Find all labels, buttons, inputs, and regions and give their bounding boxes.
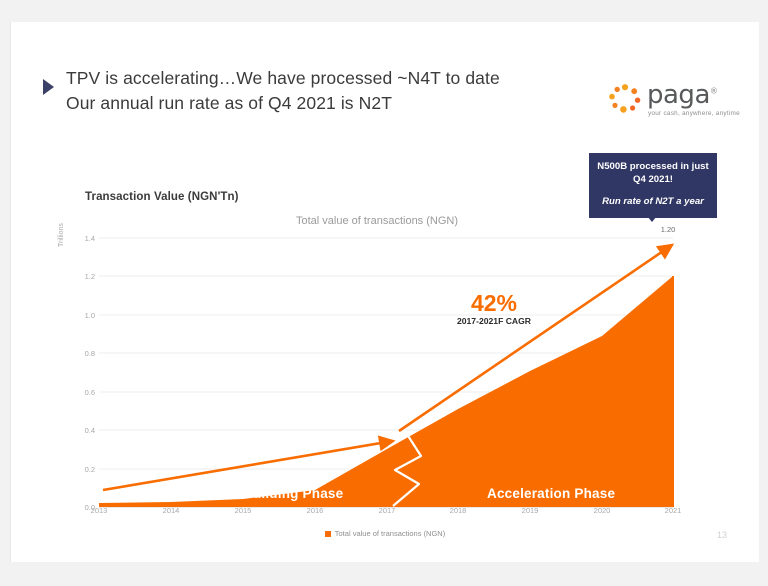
- x-tick-label-2020: 2020: [582, 506, 622, 515]
- area-chart: [11, 22, 759, 562]
- cagr-caption: 2017-2021F CAGR: [436, 316, 552, 326]
- x-tick-label-2013: 2013: [79, 506, 119, 515]
- legend-swatch-icon: [325, 531, 331, 537]
- x-tick-label-2016: 2016: [295, 506, 335, 515]
- chart-legend: Total value of transactions (NGN): [11, 525, 759, 543]
- phase-label-acceleration: Acceleration Phase: [487, 486, 615, 501]
- y-tick-label-1.0: 1.0: [71, 311, 95, 320]
- y-tick-label-1.2: 1.2: [71, 272, 95, 281]
- x-tick-label-2018: 2018: [438, 506, 478, 515]
- x-tick-label-2017: 2017: [367, 506, 407, 515]
- x-tick-label-2021: 2021: [653, 506, 693, 515]
- y-tick-label-1.4: 1.4: [71, 234, 95, 243]
- y-tick-label-0.2: 0.2: [71, 465, 95, 474]
- x-tick-label-2019: 2019: [510, 506, 550, 515]
- data-label-2021: 1.20: [648, 225, 688, 234]
- slide-canvas: TPV is accelerating…We have processed ~N…: [10, 22, 759, 562]
- x-tick-label-2014: 2014: [151, 506, 191, 515]
- legend-label: Total value of transactions (NGN): [335, 529, 445, 538]
- y-tick-label-0.6: 0.6: [71, 388, 95, 397]
- x-tick-label-2015: 2015: [223, 506, 263, 515]
- y-tick-label-0.4: 0.4: [71, 426, 95, 435]
- cagr-value: 42%: [461, 290, 527, 317]
- y-tick-label-0.8: 0.8: [71, 349, 95, 358]
- phase-label-building: Building Phase: [243, 486, 343, 501]
- page-number: 13: [717, 530, 727, 540]
